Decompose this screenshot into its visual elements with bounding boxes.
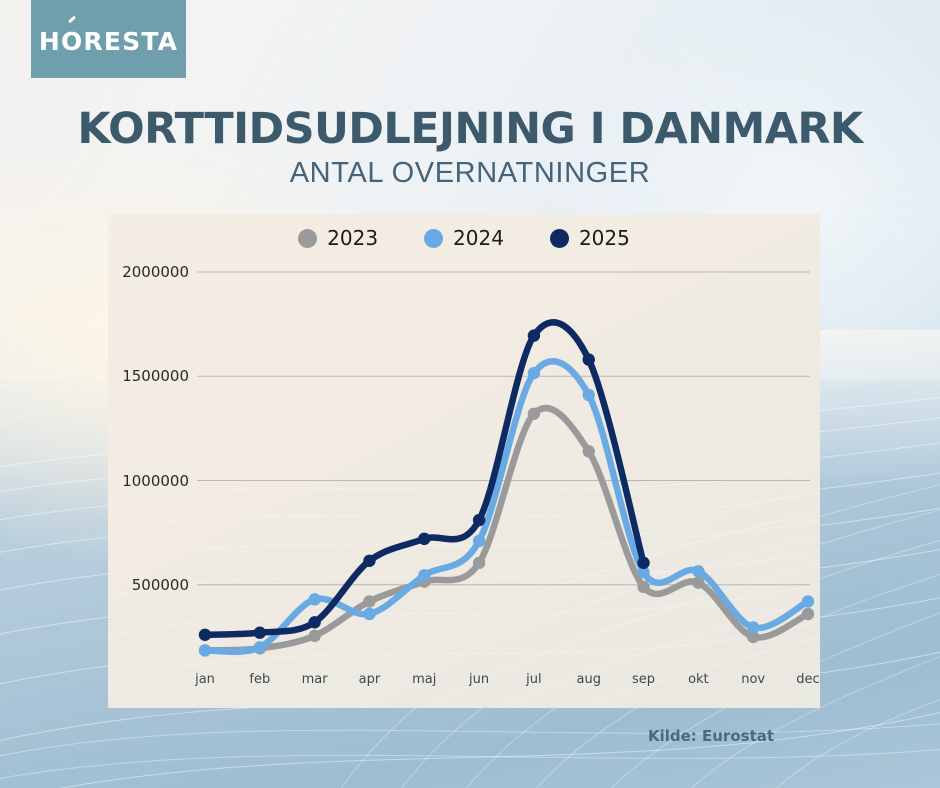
datapoint-2023-dec[interactable]	[802, 608, 814, 620]
datapoint-2023-aug[interactable]	[583, 445, 595, 457]
x-axis-tick-nov: nov	[726, 672, 780, 687]
x-axis-tick-apr: apr	[342, 672, 396, 687]
legend-label-2023: 2023	[327, 226, 378, 250]
y-axis-tick-2000000: 2000000	[108, 263, 189, 281]
datapoint-2024-maj[interactable]	[418, 569, 430, 581]
datapoint-2024-jan[interactable]	[199, 644, 211, 656]
datapoint-2025-jul[interactable]	[528, 329, 540, 341]
legend-label-2024: 2024	[453, 226, 504, 250]
datapoint-2024-feb[interactable]	[254, 641, 266, 653]
datapoint-2024-apr[interactable]	[363, 608, 375, 620]
chart-legend: 2023 2024 2025	[108, 226, 820, 250]
datapoint-2025-apr[interactable]	[363, 555, 375, 567]
line-2024	[205, 361, 808, 651]
datapoint-2023-jul[interactable]	[528, 408, 540, 420]
x-axis-tick-okt: okt	[671, 672, 725, 687]
legend-label-2025: 2025	[579, 226, 630, 250]
datapoint-2025-jun[interactable]	[473, 514, 485, 526]
datapoint-2024-mar[interactable]	[308, 593, 320, 605]
x-axis-tick-sep: sep	[617, 672, 671, 687]
datapoint-2023-apr[interactable]	[363, 595, 375, 607]
datapoint-2024-aug[interactable]	[583, 389, 595, 401]
legend-item-2025[interactable]: 2025	[550, 226, 630, 250]
datapoint-2025-maj[interactable]	[418, 533, 430, 545]
series-2024	[199, 361, 814, 656]
datapoint-2024-jun[interactable]	[473, 535, 485, 547]
datapoint-2025-aug[interactable]	[583, 353, 595, 365]
y-axis-tick-1500000: 1500000	[108, 367, 189, 385]
logo-o-accent-group: O	[61, 27, 83, 56]
logo-text-resta: RESTA	[83, 27, 178, 56]
datapoint-2023-sep[interactable]	[637, 581, 649, 593]
chart-panel: 2023 2024 2025 5000001000000150000020000…	[108, 214, 820, 708]
legend-item-2024[interactable]: 2024	[424, 226, 504, 250]
x-axis-tick-dec: dec	[781, 672, 820, 687]
datapoint-2024-nov[interactable]	[747, 621, 759, 633]
logo-wordmark: HORESTA	[39, 23, 178, 56]
page-title: KORTTIDSUDLEJNING I DANMARK	[0, 104, 940, 154]
chart-svg	[108, 214, 820, 708]
legend-swatch-2024	[424, 229, 443, 248]
legend-swatch-2023	[298, 229, 317, 248]
datapoint-2025-mar[interactable]	[308, 616, 320, 628]
accent-mark-icon	[68, 15, 76, 23]
x-axis-tick-jan: jan	[178, 672, 232, 687]
x-axis-tick-aug: aug	[562, 672, 616, 687]
datapoint-2024-jul[interactable]	[528, 367, 540, 379]
datapoint-2024-dec[interactable]	[802, 595, 814, 607]
datapoint-2024-okt[interactable]	[692, 565, 704, 577]
plot-area: 500000100000015000002000000janfebmaraprm…	[108, 214, 820, 708]
x-axis-tick-feb: feb	[233, 672, 287, 687]
series-2025	[199, 322, 650, 641]
logo-text-h: H	[39, 27, 61, 56]
legend-swatch-2025	[550, 229, 569, 248]
horesta-logo: HORESTA	[31, 0, 186, 78]
x-axis-tick-mar: mar	[288, 672, 342, 687]
page-subtitle: ANTAL OVERNATNINGER	[0, 157, 940, 190]
datapoint-2023-jun[interactable]	[473, 557, 485, 569]
y-axis-tick-500000: 500000	[108, 576, 189, 594]
x-axis-tick-jun: jun	[452, 672, 506, 687]
x-axis-tick-maj: maj	[397, 672, 451, 687]
datapoint-2023-mar[interactable]	[308, 630, 320, 642]
datapoint-2025-feb[interactable]	[254, 627, 266, 639]
source-note: Kilde: Eurostat	[596, 727, 826, 745]
y-axis-tick-1000000: 1000000	[108, 472, 189, 490]
line-2025	[205, 322, 644, 635]
x-axis-tick-jul: jul	[507, 672, 561, 687]
datapoint-2025-sep[interactable]	[637, 557, 649, 569]
logo-text-o: O	[61, 27, 83, 56]
legend-item-2023[interactable]: 2023	[298, 226, 378, 250]
datapoint-2025-jan[interactable]	[199, 629, 211, 641]
